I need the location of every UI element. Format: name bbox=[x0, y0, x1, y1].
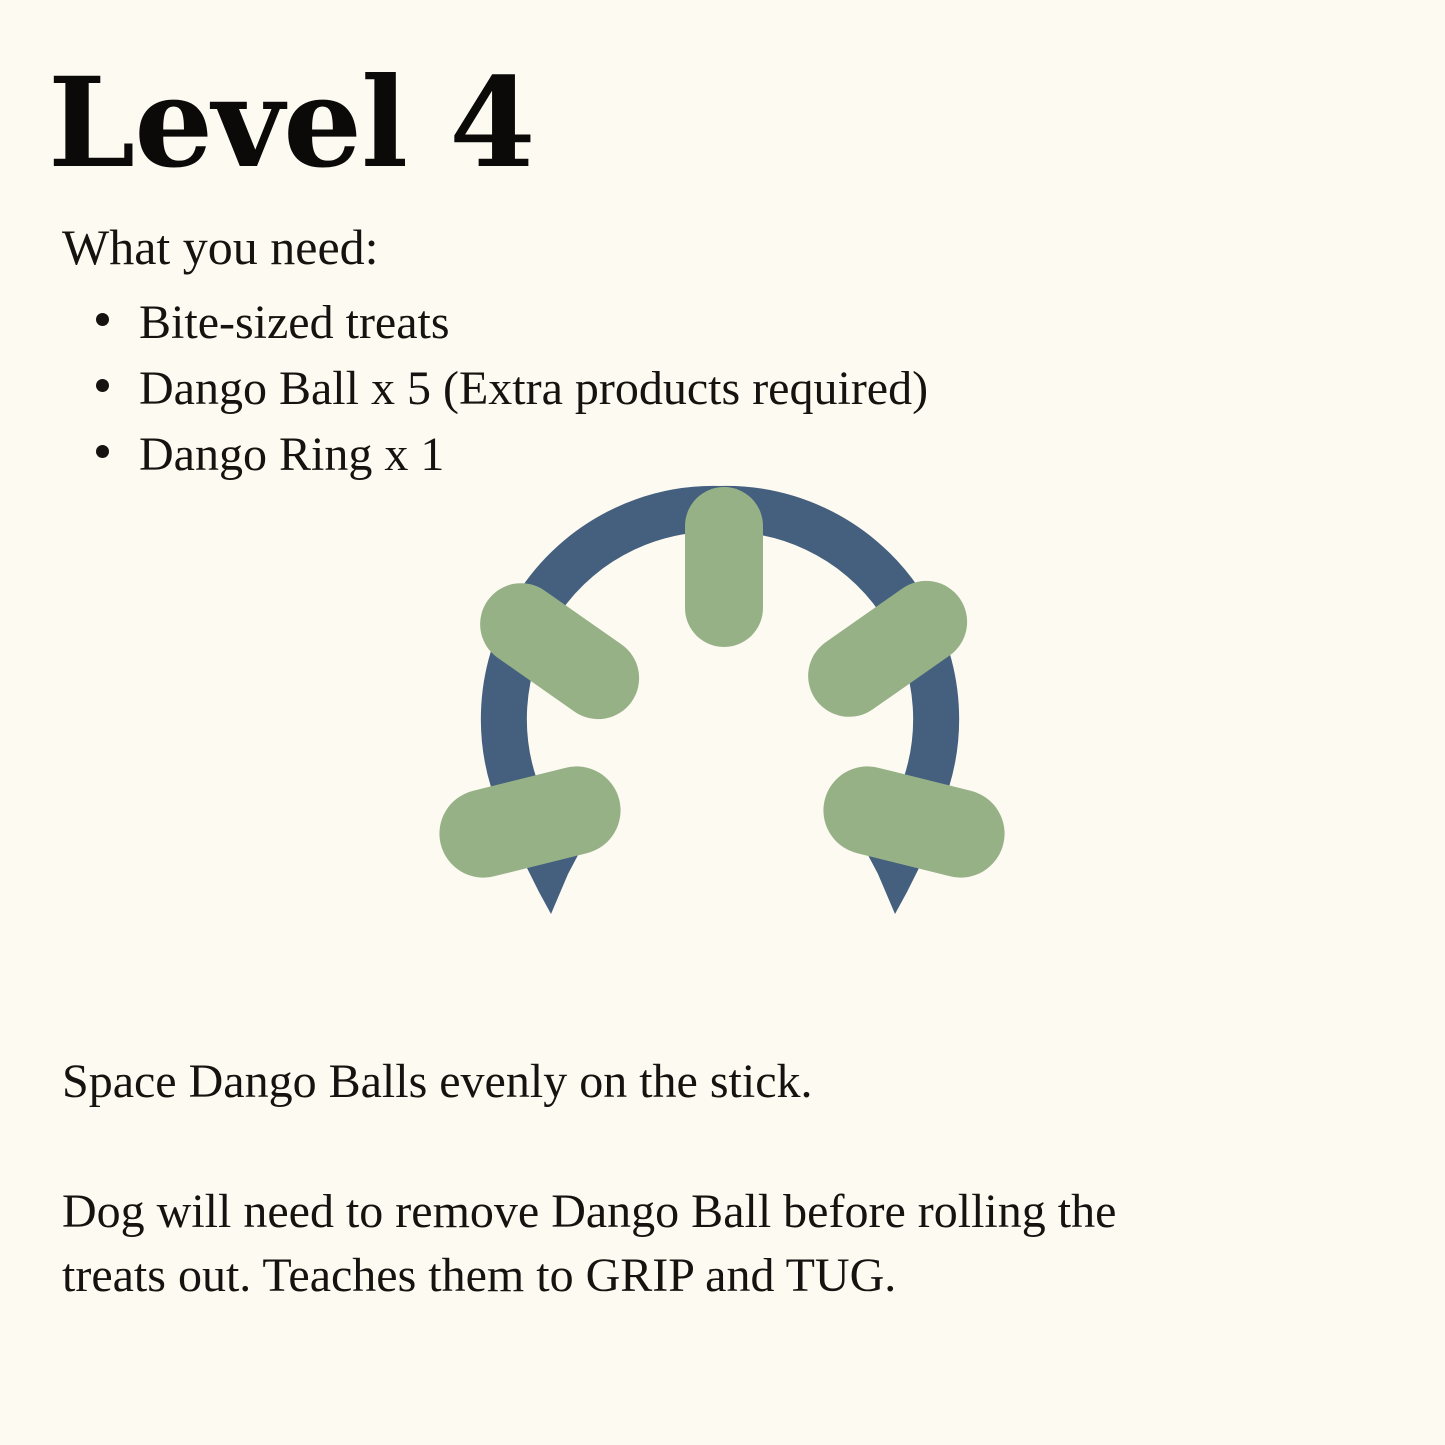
list-item: Dango Ball x 5 (Extra products required) bbox=[96, 356, 928, 422]
instruction-paragraph-1: Space Dango Balls evenly on the stick. bbox=[62, 1050, 1212, 1114]
list-item-label: Bite-sized treats bbox=[139, 290, 450, 356]
bullet-icon bbox=[96, 379, 109, 392]
instruction-paragraph-2: Dog will need to remove Dango Ball befor… bbox=[62, 1180, 1232, 1308]
page-title: Level 4 bbox=[48, 62, 535, 186]
list-item: Bite-sized treats bbox=[96, 290, 928, 356]
bullet-icon bbox=[96, 313, 109, 326]
dango-ball-top bbox=[685, 487, 763, 647]
list-item-label: Dango Ball x 5 (Extra products required) bbox=[139, 356, 928, 422]
what-you-need-label: What you need: bbox=[62, 222, 379, 272]
instruction-card: Level 4 What you need: Bite-sized treats… bbox=[0, 0, 1445, 1445]
list-item-label: Dango Ring x 1 bbox=[139, 422, 444, 488]
dango-ring-with-balls-icon bbox=[418, 462, 1028, 1002]
needs-list: Bite-sized treats Dango Ball x 5 (Extra … bbox=[96, 290, 928, 488]
bullet-icon bbox=[96, 445, 109, 458]
